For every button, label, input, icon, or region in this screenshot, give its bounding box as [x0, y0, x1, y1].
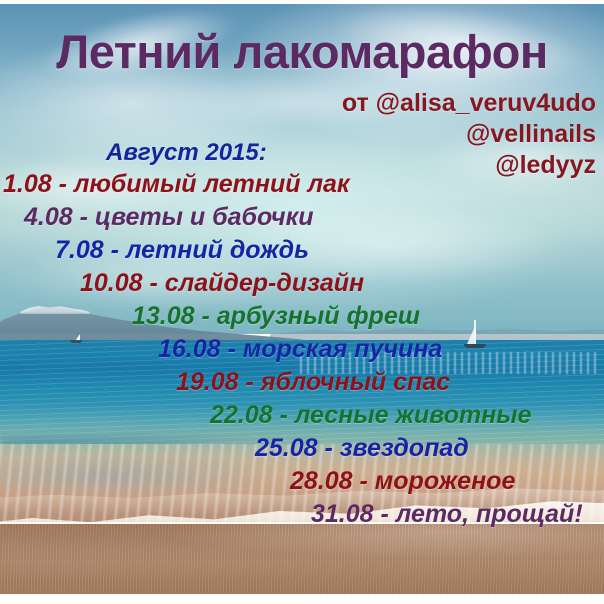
schedule-entry-10-08: 10.08 - слайдер-дизайн [80, 267, 364, 300]
poster-image: Летний лакомарафон от @alisa_veruv4udo @… [0, 0, 604, 604]
schedule-row: 1.08 - любимый летний лак [0, 168, 604, 201]
schedule-entry-22-08: 22.08 - лесные животные [210, 399, 531, 432]
text-overlay: Летний лакомарафон от @alisa_veruv4udo @… [0, 0, 604, 604]
schedule-entry-16-08: 16.08 - морская пучина [158, 333, 442, 366]
bottom-white-strip [0, 594, 604, 604]
schedule-entry-4-08: 4.08 - цветы и бабочки [24, 201, 314, 234]
schedule-row: 16.08 - морская пучина [0, 333, 604, 366]
schedule-entry-25-08: 25.08 - звездопад [255, 432, 469, 465]
schedule-entry-1-08: 1.08 - любимый летний лак [3, 168, 350, 201]
schedule-row: 31.08 - лето, прощай! [0, 498, 604, 531]
schedule-entry-19-08: 19.08 - яблочный спас [176, 366, 450, 399]
schedule-list: 1.08 - любимый летний лак 4.08 - цветы и… [0, 168, 604, 531]
credit-line-vellinails: @vellinails [342, 119, 596, 150]
schedule-row: 4.08 - цветы и бабочки [0, 201, 604, 234]
schedule-row: 25.08 - звездопад [0, 432, 604, 465]
top-white-strip [0, 0, 604, 4]
schedule-row: 22.08 - лесные животные [0, 399, 604, 432]
schedule-entry-7-08: 7.08 - летний дождь [55, 234, 309, 267]
schedule-row: 28.08 - мороженое [0, 465, 604, 498]
schedule-row: 7.08 - летний дождь [0, 234, 604, 267]
poster-title: Летний лакомарафон [0, 28, 604, 75]
credit-line-author: от @alisa_veruv4udo [342, 88, 596, 119]
schedule-entry-28-08: 28.08 - мороженое [290, 465, 515, 498]
schedule-entry-31-08: 31.08 - лето, прощай! [311, 498, 583, 531]
schedule-entry-13-08: 13.08 - арбузный фреш [132, 300, 420, 333]
schedule-row: 10.08 - слайдер-дизайн [0, 267, 604, 300]
schedule-row: 19.08 - яблочный спас [0, 366, 604, 399]
schedule-row: 13.08 - арбузный фреш [0, 300, 604, 333]
month-heading: Август 2015: [106, 139, 267, 167]
